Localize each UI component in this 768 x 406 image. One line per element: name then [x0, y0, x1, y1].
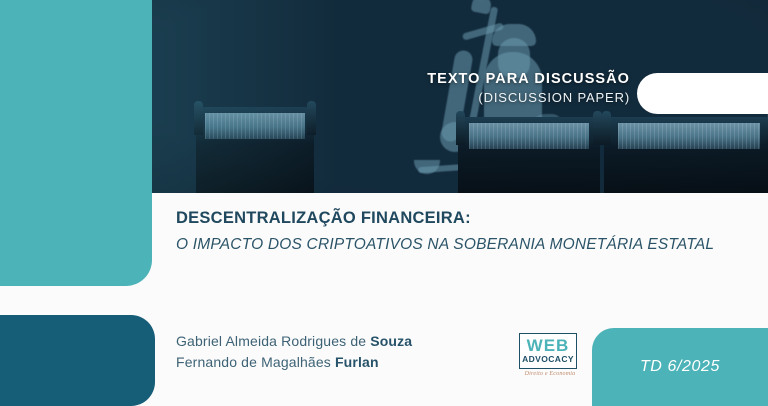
page-title: DESCENTRALIZAÇÃO FINANCEIRA: — [176, 207, 736, 231]
author-list: Gabriel Almeida Rodrigues de Souza Ferna… — [176, 331, 412, 374]
white-pill-block — [637, 73, 768, 114]
author-line: Gabriel Almeida Rodrigues de Souza — [176, 331, 412, 352]
issue-number-text: TD 6/2025 — [640, 358, 720, 376]
logo-box: WEB ADVOCACY — [519, 333, 577, 369]
author-surname: Souza — [370, 333, 412, 349]
author-given-names: Gabriel Almeida Rodrigues de — [176, 333, 370, 349]
publication-cover: TEXTO PARA DISCUSSÃO (DISCUSSION PAPER) … — [0, 0, 768, 406]
author-given-names: Fernando de Magalhães — [176, 354, 335, 370]
issue-number-badge: TD 6/2025 — [592, 328, 768, 406]
title-block: DESCENTRALIZAÇÃO FINANCEIRA: O IMPACTO D… — [176, 207, 736, 257]
series-label-english: (DISCUSSION PAPER) — [300, 90, 630, 105]
logo-tagline: Direito e Economia — [519, 371, 581, 377]
author-surname: Furlan — [335, 354, 379, 370]
web-advocacy-logo: WEB ADVOCACY Direito e Economia — [519, 333, 581, 395]
logo-secondary-text: ADVOCACY — [520, 354, 576, 365]
logo-primary-text: WEB — [520, 337, 576, 354]
series-label: TEXTO PARA DISCUSSÃO — [300, 70, 630, 88]
teal-sidebar-block — [0, 0, 152, 286]
navy-footer-block — [0, 315, 155, 406]
author-line: Fernando de Magalhães Furlan — [176, 352, 412, 373]
page-subtitle: O IMPACTO DOS CRIPTOATIVOS NA SOBERANIA … — [176, 233, 736, 257]
series-label-group: TEXTO PARA DISCUSSÃO (DISCUSSION PAPER) — [300, 70, 630, 105]
